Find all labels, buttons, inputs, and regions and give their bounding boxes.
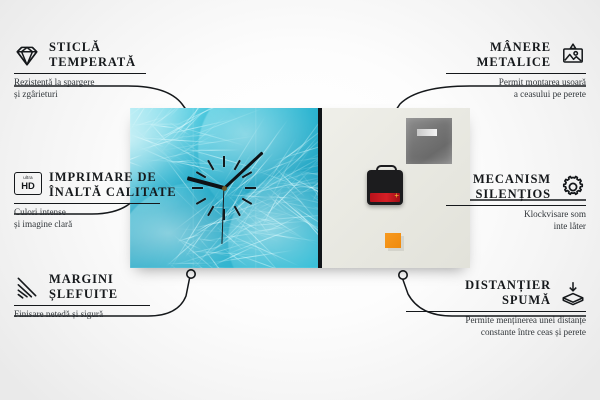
feature-silent-mechanism-rule: [446, 205, 586, 206]
feature-foam-spacer-desc-1: Permite menținerea unei distanțe: [386, 315, 586, 327]
feature-silent-mechanism-title: MECANISM SILENȚIOS: [473, 172, 551, 201]
feature-metal-handles-head: MÂNERE METALICE: [426, 40, 586, 69]
feature-silent-mechanism-desc-1: Klockvisare som: [426, 209, 586, 221]
feature-polished-edges-head: MARGINI ȘLEFUITE: [14, 272, 174, 301]
feature-foam-spacer-head: DISTANȚIER SPUMĂ: [386, 278, 586, 307]
feature-foam-spacer-desc-2: constante între ceas și perete: [386, 327, 586, 339]
feature-high-quality-print-rule: [14, 203, 160, 204]
ultra-hd-icon: ultra HD: [14, 172, 40, 198]
feature-tempered-glass-desc-1: Rezistență la spargere: [14, 77, 174, 89]
feature-silent-mechanism-head: MECANISM SILENȚIOS: [426, 172, 586, 201]
feature-high-quality-print-desc-2: și imagine clară: [14, 219, 184, 231]
feature-foam-spacer: DISTANȚIER SPUMĂ Permite menținerea unei…: [386, 278, 586, 339]
polished-edges-icon: [14, 274, 40, 300]
orange-foam-spacer: [385, 233, 401, 248]
infographic-canvas: STICLĂ TEMPERATĂ Rezistență la spargere …: [0, 0, 600, 400]
feature-metal-handles: MÂNERE METALICE Permit montarea ușoară a…: [426, 40, 586, 101]
feature-tempered-glass-head: STICLĂ TEMPERATĂ: [14, 40, 174, 69]
quartz-clock-mechanism: [367, 170, 403, 205]
gear-icon: [560, 174, 586, 200]
feature-high-quality-print-head: ultra HD IMPRIMARE DE ÎNALTĂ CALITATE: [14, 170, 184, 199]
feature-polished-edges-title: MARGINI ȘLEFUITE: [49, 272, 118, 301]
feature-metal-handles-desc-2: a ceasului pe perete: [426, 89, 586, 101]
feature-tempered-glass-desc-2: și zgârieturi: [14, 89, 174, 101]
feature-polished-edges: MARGINI ȘLEFUITE Finisare netedă și sigu…: [14, 272, 174, 321]
feature-high-quality-print: ultra HD IMPRIMARE DE ÎNALTĂ CALITATE Cu…: [14, 170, 184, 231]
feature-metal-handles-rule: [446, 73, 586, 74]
feature-silent-mechanism-desc-2: inte låter: [426, 221, 586, 233]
feature-high-quality-print-desc-1: Culori intense: [14, 207, 184, 219]
metal-hanger-bracket: [406, 118, 452, 164]
diamond-icon: [14, 42, 40, 68]
feature-metal-handles-title: MÂNERE METALICE: [477, 40, 551, 69]
feature-tempered-glass: STICLĂ TEMPERATĂ Rezistență la spargere …: [14, 40, 174, 101]
aa-battery: [370, 193, 400, 202]
feature-polished-edges-desc-1: Finisare netedă și sigură: [14, 309, 174, 321]
feature-foam-spacer-rule: [406, 311, 586, 312]
feature-tempered-glass-rule: [14, 73, 146, 74]
ultra-hd-icon-large-label: HD: [21, 181, 35, 191]
endpoint-polished-edges: [187, 270, 195, 278]
feature-metal-handles-desc-1: Permit montarea ușoară: [426, 77, 586, 89]
feature-silent-mechanism: MECANISM SILENȚIOS Klockvisare som inte …: [426, 172, 586, 233]
feature-polished-edges-rule: [14, 305, 150, 306]
clock-center-pin: [222, 186, 227, 191]
framed-picture-hanging-icon: [560, 42, 586, 68]
press-down-pad-icon: [560, 280, 586, 306]
feature-high-quality-print-title: IMPRIMARE DE ÎNALTĂ CALITATE: [49, 170, 177, 199]
feature-foam-spacer-title: DISTANȚIER SPUMĂ: [465, 278, 551, 307]
feature-tempered-glass-title: STICLĂ TEMPERATĂ: [49, 40, 136, 69]
